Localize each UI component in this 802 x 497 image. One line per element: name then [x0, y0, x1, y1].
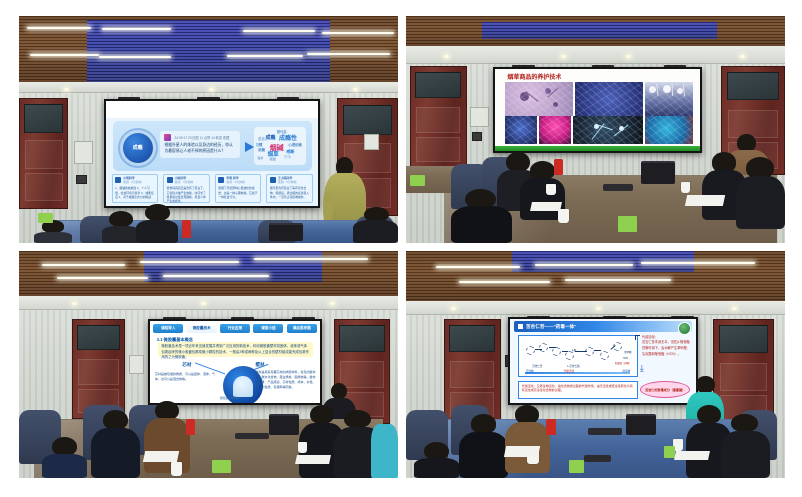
answer-text: 烟草里含有尼古丁等有害化合物，吸烟后，通过烟的反复吸入体内，一旦停止就很难戒掉。 [270, 186, 310, 199]
slide-title-bar: 苦杏仁苷——"药毒一体" [514, 321, 692, 332]
presentation-screen: 课程导入 微胶囊技术 行业应用 课堂小结 课后思考题 3.1 微胶囊基本概念 微… [148, 319, 322, 405]
product-label-benzaldehyde: 苯甲醛 [624, 350, 632, 354]
presentation-screen: 烟草商品的养护技术 [493, 67, 701, 153]
audience-member [42, 437, 87, 478]
reaction-label: 水解 [571, 348, 576, 352]
document-sheet [503, 446, 540, 457]
question-meta: 24·05·17 23 回复 11 点赞 14 转发 收藏 [174, 135, 229, 140]
tab-microcapsule-tech[interactable]: 微胶囊技术 [187, 324, 217, 334]
callout-bubble: 苦杏仁的致毒成分（氢氰酸） [640, 381, 690, 398]
label-core-material: 芯材 [182, 362, 191, 368]
wall-material-description: 壁材是用来包覆芯材的成膜材料，常见的壁材有：碳水化合物、蛋白质类、脂质类等。壁材… [255, 370, 316, 389]
ceiling-soffit [19, 82, 398, 93]
product-label-hydrocyanic: 氢氰酸（剧毒） [615, 361, 632, 365]
word-cloud-item: 吸烟 [270, 157, 276, 161]
flow-arrow-icon [245, 142, 254, 152]
door-left [72, 319, 125, 419]
word-cloud: 成瘾 成瘾性 烟碱 烟草 心理依赖 尼古丁 替代品 习惯 依赖 戒断 渴求 [254, 127, 306, 165]
student-meta: 答题 · 3分钟前 [226, 181, 245, 185]
definition-note: 代谢活化：又称生物活化，指化合物通过酶的代谢作用，由无活性或低毒性转化为具有活性… [518, 381, 639, 400]
answer-card[interactable]: 小雨同学 答题 · 3分钟前 我觉得其实还是含有了尼古丁，它使得大脑产生依赖，时… [163, 174, 210, 202]
presentation-screen: 苦杏仁苷——"药毒一体" [508, 317, 698, 406]
wall-control-panel[interactable] [74, 141, 93, 164]
tab-summary[interactable]: 课堂小结 [253, 324, 283, 334]
tab-course-intro[interactable]: 课程导入 [153, 324, 183, 334]
document-sheet [674, 451, 710, 460]
answer-card[interactable]: 小明同学 答题 · 2分钟前 1、烟碱的成瘾性 2、个人习惯，社会环境与情景 3… [112, 174, 159, 202]
audience-member [144, 401, 189, 474]
ceiling [406, 251, 785, 301]
microphone [603, 184, 633, 191]
door-left [19, 98, 68, 209]
slide-title: 烟草商品的养护技术 [507, 72, 561, 81]
tissue-box [38, 213, 53, 222]
audience-member [459, 414, 508, 478]
wall-socket[interactable] [472, 132, 481, 141]
wall-socket[interactable] [76, 175, 87, 184]
word-cloud-item: 行为 [284, 155, 291, 160]
micrograph-image [505, 82, 573, 115]
micrograph-image [505, 116, 537, 144]
paper-cup [546, 184, 555, 195]
photo-panel-top-left: 二、烟碱成瘾性 河南农业大学 成瘾 24·05·17 23 回复 11 点赞 1… [19, 16, 398, 243]
audience-member [721, 414, 770, 478]
micrograph-image [573, 116, 643, 144]
micrograph-image [575, 82, 643, 115]
avatar [164, 134, 171, 141]
tab-industry-application[interactable]: 行业应用 [220, 324, 250, 334]
slide-amygdalin: 苦杏仁苷——"药毒一体" [510, 319, 696, 404]
wall-switch[interactable] [364, 134, 379, 150]
diagram-caption: 微胶囊基本结构 [220, 396, 240, 400]
document-sheet [143, 451, 180, 462]
answer-card[interactable]: 王小陈同学 答题 · 5分钟前 烟草里含有尼古丁等有害化合物，吸烟后，通过烟的反… [266, 174, 313, 202]
school-emblem-icon [678, 322, 691, 335]
microphone [235, 433, 269, 440]
micrograph-image [645, 82, 694, 115]
answer-text: 1、烟碱的成瘾性 2、个人习惯，社会环境与情景 3、戒断反应 4、对于戒烟意志力… [115, 186, 155, 199]
document-sheet [685, 195, 725, 206]
photo-panel-top-right: 烟草商品的养护技术 [406, 16, 785, 243]
water-bottle [546, 419, 555, 435]
document-sheet [530, 202, 562, 211]
bracket-icon [635, 335, 640, 340]
audience-member [136, 204, 178, 243]
tissue-box [410, 175, 425, 186]
laptop [626, 414, 656, 434]
water-bottle [182, 220, 191, 238]
slide-nicotine-addiction: 二、烟碱成瘾性 河南农业大学 成瘾 24·05·17 23 回复 11 点赞 1… [106, 101, 318, 206]
pointer-cursor-icon: ⤓ [640, 364, 644, 373]
collage-grid: 二、烟碱成瘾性 河南农业大学 成瘾 24·05·17 23 回复 11 点赞 1… [19, 16, 785, 478]
product-label-hcn: HCN [623, 357, 628, 360]
student-meta: 答题 · 2分钟前 [123, 181, 142, 185]
axis-label-right: 终毒物 [622, 369, 630, 373]
word-cloud-item: 心理依赖 [288, 142, 302, 147]
audience-member [736, 157, 785, 230]
audience-member [102, 211, 140, 243]
slide-tab-bar: 课程导入 微胶囊技术 行业应用 课堂小结 课后思考题 [153, 324, 317, 334]
metabolic-activation-text: 代谢活化： 苦杏仁苷本身无毒，但在β-葡萄糖苷酶作用下，会水解产生苯甲醛、氢氰酸… [642, 335, 690, 357]
tissue-box [212, 460, 231, 474]
reaction-diagram: 苦杏仁苷 水解 L-苦杏仁腈 苯甲醛 HCN 氢氰酸（剧毒） 活性物 代谢活化 … [518, 335, 639, 377]
question-text: 根据外星人的体验以及身边的经历，你认为最容易让人戒不掉的原因是什么？ [164, 143, 236, 155]
ceiling [19, 251, 398, 296]
answer-card-list: 小明同学 答题 · 2分钟前 1、烟碱的成瘾性 2、个人习惯，社会环境与情景 3… [112, 174, 313, 202]
microphone [584, 455, 611, 462]
door-left [410, 66, 467, 168]
photo-panel-bottom-left: 课程导入 微胶囊技术 行业应用 课堂小结 课后思考题 3.1 微胶囊基本概念 微… [19, 251, 398, 478]
student-avatar-icon [270, 177, 276, 183]
highlight-paragraph: 微胶囊技术是一项近年来迅速发展并得到广泛应用的新技术，利用微胶囊壁材将固体、液体… [158, 342, 313, 357]
audience-member [414, 442, 459, 478]
student-avatar-icon [218, 177, 224, 183]
micrograph-image [539, 116, 571, 144]
document-sheet [295, 455, 331, 464]
audience-member [371, 424, 398, 478]
axis-label-mid: 代谢活化 [564, 369, 574, 373]
laptop [269, 414, 299, 434]
student-meta: 答题 · 5分钟前 [278, 181, 297, 185]
tissue-box [569, 460, 584, 474]
audience-member [34, 220, 72, 243]
audience-member [353, 207, 398, 243]
answer-text: 我觉得其实还是含有了尼古丁，它使得大脑产生依赖，时间长了吸烟者就会出现烟瘾，而且… [167, 186, 207, 203]
word-cloud-item: 替代品 [277, 129, 287, 134]
word-cloud-item: 尼古丁 [258, 136, 268, 141]
title-square-icon [518, 324, 523, 329]
photo-collage: 二、烟碱成瘾性 河南农业大学 成瘾 24·05·17 23 回复 11 点赞 1… [0, 0, 802, 497]
word-cloud-item: 成瘾性 [279, 133, 297, 142]
audience-member [451, 189, 512, 243]
micrograph-grid [505, 82, 693, 144]
slide-fungal-micrographs: 烟草商品的养护技术 [495, 69, 699, 151]
wall-control-panel[interactable] [129, 355, 144, 373]
callout-text: 苦杏仁的致毒成分（氢氰酸） [645, 387, 685, 392]
presentation-screen: 二、烟碱成瘾性 河南农业大学 成瘾 24·05·17 23 回复 11 点赞 1… [104, 99, 320, 208]
capsule-core [233, 376, 252, 397]
paper-cup [681, 182, 690, 193]
compound-label-left: 苦杏仁苷 [532, 364, 542, 368]
core-material-description: 芯材是被包埋的物质，可以是固体、液体、气体，也可以是混合物等。 [155, 372, 216, 382]
addiction-circle: 成瘾 [123, 133, 153, 163]
ceiling-soffit [406, 46, 785, 64]
word-cloud-item: 依赖 [258, 147, 265, 152]
micrograph-image [645, 116, 694, 144]
tissue-box [618, 216, 637, 232]
tissue-box [664, 446, 675, 457]
ceiling [19, 16, 398, 82]
slide-body: 成瘾 24·05·17 23 回复 11 点赞 14 转发 收藏 根据外星人的体… [113, 121, 312, 171]
laptop [641, 161, 675, 184]
slide-microcapsule: 课程导入 微胶囊技术 行业应用 课堂小结 课后思考题 3.1 微胶囊基本概念 微… [150, 321, 320, 403]
photo-panel-bottom-right: 苦杏仁苷——"药毒一体" [406, 251, 785, 478]
water-bottle [186, 419, 195, 435]
answer-text: 吸烟了带给那种心里放松的感觉，这是一种心理依赖，它属于一种社会行为。 [218, 186, 258, 199]
student-question-card: 24·05·17 23 回复 11 点赞 14 转发 收藏 根据外星人的体验以及… [160, 131, 240, 158]
slide-footer-bar [495, 146, 699, 152]
student-meta: 答题 · 3分钟前 [175, 181, 194, 185]
slide-title: 苦杏仁苷——"药毒一体" [526, 324, 576, 330]
student-avatar-icon [167, 177, 173, 183]
word-cloud-item: 渴求 [257, 156, 263, 160]
wall-control-panel[interactable] [470, 107, 489, 127]
audience-member [91, 410, 140, 478]
paper-cup [298, 442, 307, 453]
paper-cup [171, 462, 182, 476]
axis-label-left: 活性物 [526, 369, 534, 373]
answer-card[interactable]: 李明 同学 答题 · 3分钟前 吸烟了带给那种心里放松的感觉，这是一种心理依赖，… [215, 174, 262, 202]
ceiling [406, 16, 785, 46]
student-avatar-icon [115, 177, 121, 183]
tab-homework[interactable]: 课后思考题 [287, 324, 317, 334]
laptop [269, 223, 303, 241]
water-bottle [554, 159, 563, 175]
microphone [588, 428, 622, 435]
word-cloud-item: 习惯 [256, 142, 263, 147]
